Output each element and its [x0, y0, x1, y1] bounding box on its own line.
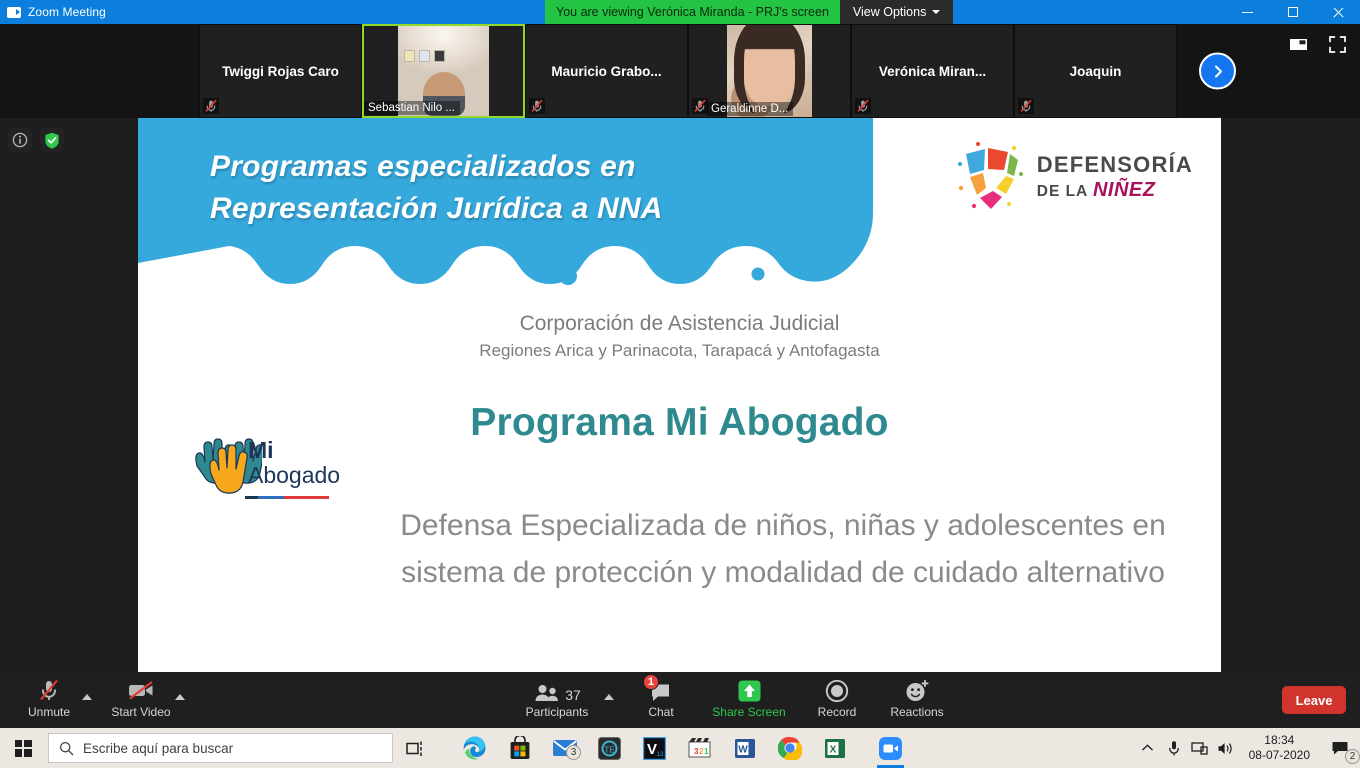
shared-screen-stage: Programas especializados en Representaci… — [0, 118, 1360, 672]
record-circle-icon — [825, 677, 849, 703]
svg-text:W: W — [738, 744, 748, 755]
viewing-screen-banner: You are viewing Verónica Miranda - PRJ's… — [545, 0, 840, 24]
defensoria-line-2-strong: NIÑEZ — [1093, 179, 1156, 201]
te-app-icon: TE — [598, 737, 621, 760]
chevron-down-icon — [932, 10, 940, 14]
taskbar-search-input[interactable]: Escribe aquí para buscar — [48, 733, 393, 763]
mic-muted-icon — [855, 98, 871, 114]
thumbnail-geraldinne-d[interactable]: Geraldinne D... — [688, 24, 851, 118]
people-icon: 37 — [533, 677, 581, 703]
participant-name: Joaquin — [1064, 64, 1128, 79]
svg-text:TE: TE — [604, 745, 614, 754]
thumbnail-veronica-miranda[interactable]: Verónica Miran... — [851, 24, 1014, 118]
task-view-button[interactable] — [393, 728, 438, 768]
participant-name: Verónica Miran... — [873, 64, 992, 79]
mi-abogado-logo: Mi Abogado — [190, 430, 330, 510]
chat-label: Chat — [648, 705, 673, 719]
shield-check-icon — [44, 132, 60, 149]
mic-muted-icon — [1018, 98, 1034, 114]
taskbar-app-microsoft-word[interactable]: W — [722, 728, 767, 768]
microphone-muted-icon — [37, 677, 61, 703]
taskbar-app-vegas-pro[interactable]: V 13 — [632, 728, 677, 768]
microsoft-edge-icon — [462, 735, 488, 761]
organization-regions: Regiones Arica y Parinacota, Tarapacá y … — [138, 338, 1221, 363]
taskbar-app-te[interactable]: TE — [587, 728, 632, 768]
show-hidden-icons-button[interactable] — [1135, 728, 1161, 768]
google-chrome-icon — [778, 736, 802, 760]
notification-center-button[interactable]: 2 — [1320, 728, 1360, 768]
next-participants-button[interactable] — [1199, 53, 1236, 90]
participants-label: Participants — [526, 705, 589, 719]
search-placeholder: Escribe aquí para buscar — [83, 741, 233, 756]
share-screen-label: Share Screen — [712, 705, 785, 719]
mail-badge: 3 — [566, 745, 581, 760]
network-icon — [1191, 741, 1208, 756]
start-button[interactable] — [0, 728, 46, 768]
video-off-icon — [127, 677, 155, 703]
volume-tray-button[interactable] — [1213, 728, 1239, 768]
notification-badge: 2 — [1345, 749, 1360, 764]
meeting-info-controls — [8, 128, 64, 152]
participant-name: Twiggi Rojas Caro — [216, 64, 345, 79]
system-tray: 18:34 08-07-2020 2 — [1135, 728, 1360, 768]
defensoria-line-1: DEFENSORÍA — [1037, 154, 1193, 176]
presentation-slide: Programas especializados en Representaci… — [138, 118, 1221, 674]
microsoft-excel-icon: X — [824, 737, 846, 760]
mic-muted-icon — [203, 98, 219, 114]
taskbar-app-microsoft-edge[interactable] — [452, 728, 497, 768]
taskbar-app-google-chrome[interactable] — [767, 728, 812, 768]
start-video-label: Start Video — [111, 705, 170, 719]
participant-name: Sebastian Nilo ... — [364, 101, 460, 115]
minimize-panel-button[interactable] — [1290, 37, 1307, 57]
close-icon — [1332, 6, 1344, 18]
organization-block: Corporación de Asistencia Judicial Regio… — [138, 310, 1221, 363]
defensoria-line-2: DE LA NIÑEZ — [1037, 180, 1193, 200]
audio-options-chevron-icon[interactable] — [82, 694, 92, 700]
title-bar: Zoom Meeting You are viewing Verónica Mi… — [0, 0, 1360, 24]
network-tray-button[interactable] — [1187, 728, 1213, 768]
reactions-label: Reactions — [890, 705, 943, 719]
zoom-icon — [878, 736, 903, 761]
taskbar-app-microsoft-store[interactable] — [497, 728, 542, 768]
fullscreen-icon — [1329, 36, 1346, 53]
microsoft-store-icon — [509, 736, 531, 760]
record-button[interactable]: Record — [796, 677, 878, 725]
participants-count: 37 — [565, 687, 581, 703]
defensoria-shield-icon — [952, 140, 1024, 214]
filmstrip-tail — [1177, 24, 1360, 118]
thumbnail-mauricio-grabo[interactable]: Mauricio Grabo... — [525, 24, 688, 118]
taskbar-app-mail[interactable]: 3 — [542, 728, 587, 768]
zoom-logo-icon — [7, 7, 21, 18]
leave-button[interactable]: Leave — [1282, 686, 1346, 714]
participant-name: Geraldinne D... — [707, 102, 793, 116]
thumbnail-joaquin[interactable]: Joaquin — [1014, 24, 1177, 118]
chevron-up-icon — [1141, 743, 1154, 753]
participant-name: Mauricio Grabo... — [545, 64, 667, 79]
microsoft-word-icon: W — [734, 737, 756, 760]
clock-time: 18:34 — [1249, 733, 1310, 748]
search-icon — [59, 741, 74, 756]
fullscreen-button[interactable] — [1329, 36, 1346, 58]
organization-name: Corporación de Asistencia Judicial — [138, 310, 1221, 338]
svg-text:X: X — [829, 744, 836, 755]
taskbar-app-movie-maker-321[interactable]: 3 2 1 — [677, 728, 722, 768]
close-button[interactable] — [1315, 0, 1360, 24]
taskbar-app-zoom[interactable] — [868, 728, 913, 768]
meeting-toolbar: Unmute Start Video 3 — [0, 672, 1360, 728]
chevron-right-icon — [1210, 63, 1226, 79]
maximize-icon — [1288, 7, 1298, 17]
thumbnail-sebastian-nilo[interactable]: Sebastian Nilo ... — [362, 24, 525, 118]
participant-filmstrip[interactable]: Twiggi Rojas Caro Sebastian Nilo ... Mau… — [0, 24, 1360, 118]
meeting-info-button[interactable] — [8, 128, 32, 152]
participants-button[interactable]: 37 Participants — [515, 677, 599, 725]
chat-button[interactable]: 1 Chat — [620, 677, 702, 725]
microphone-tray-button[interactable] — [1161, 728, 1187, 768]
mi-abogado-flag-rule — [245, 496, 329, 499]
smiley-plus-icon — [904, 677, 930, 703]
participants-chevron-icon[interactable] — [604, 694, 614, 700]
minimize-button[interactable] — [1225, 0, 1270, 24]
microphone-icon — [1167, 740, 1181, 757]
svg-text:13: 13 — [657, 752, 664, 758]
mic-muted-icon — [692, 98, 708, 114]
mi-abogado-text: Mi Abogado — [248, 438, 340, 488]
mi-abogado-line-1: Mi — [248, 438, 340, 462]
defensoria-line-2-prefix: DE LA — [1037, 183, 1093, 200]
mi-abogado-line-2: Abogado — [248, 462, 340, 488]
clock-date: 08-07-2020 — [1249, 748, 1310, 763]
unmute-button[interactable]: Unmute — [8, 677, 90, 725]
encryption-status-button[interactable] — [40, 128, 64, 152]
movie-maker-321-icon: 3 2 1 — [687, 737, 712, 759]
window-controls — [1225, 0, 1360, 24]
defensoria-logo-text: DEFENSORÍA DE LA NIÑEZ — [1037, 154, 1193, 200]
task-view-icon — [406, 740, 426, 757]
windows-taskbar: Escribe aquí para buscar — [0, 728, 1360, 768]
slide-title: Programas especializados en Representaci… — [210, 146, 850, 230]
thumbnail-twiggi-rojas-caro[interactable]: Twiggi Rojas Caro — [199, 24, 362, 118]
chat-bubble-icon: 1 — [649, 677, 673, 703]
defensoria-logo: DEFENSORÍA DE LA NIÑEZ — [952, 140, 1193, 214]
panel-controls — [1290, 36, 1346, 58]
volume-icon — [1217, 741, 1234, 756]
maximize-button[interactable] — [1270, 0, 1315, 24]
info-icon — [12, 132, 28, 148]
slide-body-text: Defensa Especializada de niños, niñas y … — [393, 502, 1173, 596]
unmute-label: Unmute — [28, 705, 70, 719]
taskbar-clock[interactable]: 18:34 08-07-2020 — [1239, 733, 1320, 763]
chat-unread-badge: 1 — [643, 674, 659, 690]
minimize-panel-icon — [1290, 37, 1307, 52]
thumbnail-blank — [0, 24, 199, 118]
start-video-button[interactable]: Start Video — [100, 677, 182, 725]
view-options-button[interactable]: View Options — [840, 0, 953, 24]
svg-text:1: 1 — [704, 747, 709, 756]
slide-title-line-1: Programas especializados en — [210, 146, 850, 188]
minimize-icon — [1242, 12, 1253, 13]
reactions-button[interactable]: Reactions — [876, 677, 958, 725]
windows-start-icon — [15, 740, 32, 757]
video-options-chevron-icon[interactable] — [175, 694, 185, 700]
zoom-meeting-window: Zoom Meeting You are viewing Verónica Mi… — [0, 0, 1360, 768]
title-bar-left: Zoom Meeting — [0, 5, 545, 19]
vegas-pro-icon: V 13 — [643, 737, 666, 760]
share-screen-button[interactable]: Share Screen — [707, 677, 791, 725]
share-screen-icon — [737, 677, 762, 703]
svg-text:V: V — [647, 741, 657, 758]
app-title: Zoom Meeting — [28, 5, 106, 19]
record-label: Record — [818, 705, 857, 719]
wall-frames — [404, 50, 445, 62]
view-options-label: View Options — [853, 5, 926, 19]
taskbar-app-microsoft-excel[interactable]: X — [812, 728, 857, 768]
slide-title-line-2: Representación Jurídica a NNA — [210, 188, 850, 230]
mic-muted-icon — [529, 98, 545, 114]
